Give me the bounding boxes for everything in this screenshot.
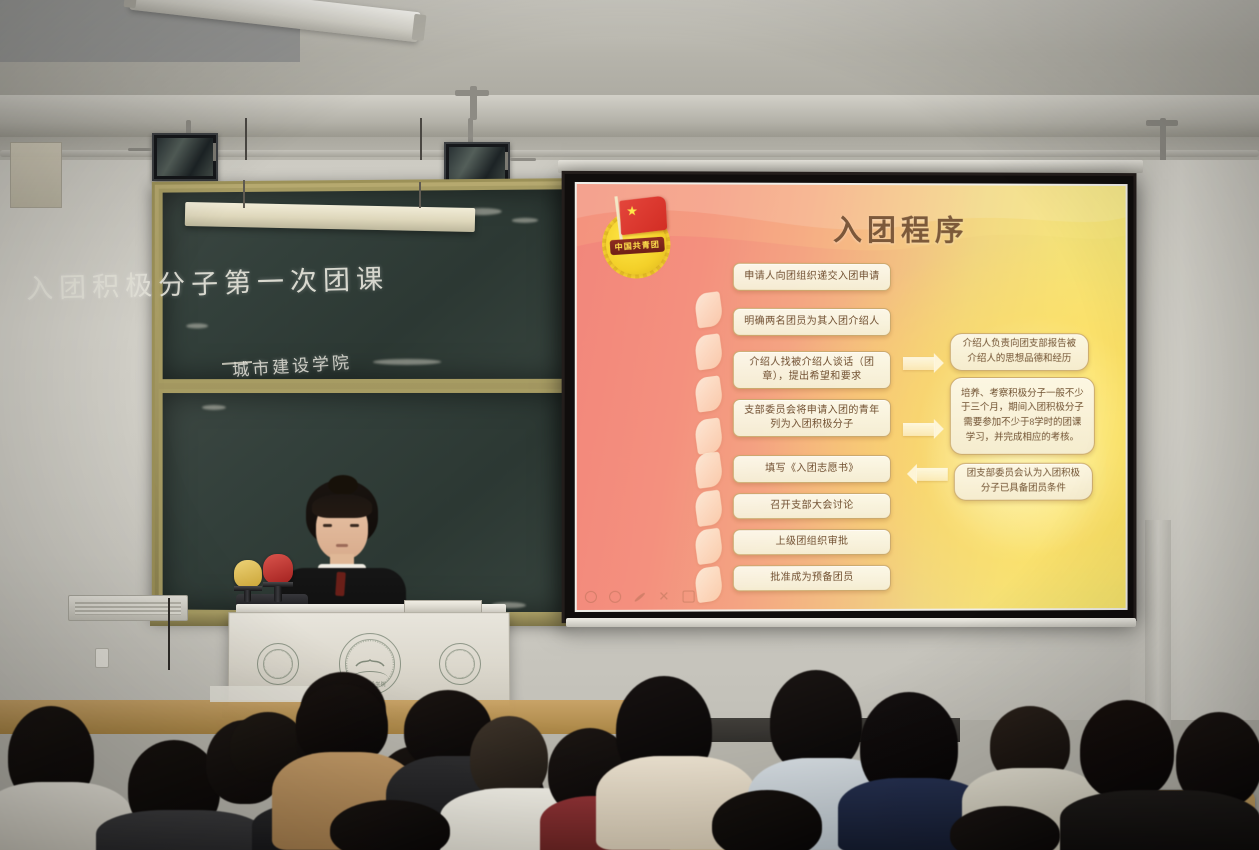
arrow-to-note-2 — [903, 423, 935, 436]
note-box-1[interactable]: 介绍人负责向团支部报告被介绍人的思想品德和经历 — [950, 333, 1089, 371]
communist-youth-league-emblem-icon: ★ 中国共青团 — [602, 196, 681, 275]
flow-step-6[interactable]: 召开支部大会讨论 — [733, 493, 891, 519]
wall-panel — [10, 142, 62, 208]
note-box-3[interactable]: 团支部委员会认为入团积极分子已具备团员条件 — [954, 463, 1093, 501]
ac-cable — [168, 598, 170, 670]
audience-shoulders — [96, 810, 266, 850]
ribbon-arrow-8 — [693, 566, 724, 603]
note-box-2[interactable]: 培养、考察积极分子一般不少于三个月，期间入团积极分子需要参加不少于8学时的团课学… — [950, 377, 1095, 455]
presenter-mouth — [336, 544, 348, 547]
ribbon-arrow-7 — [693, 528, 724, 565]
screen-bottom-bar — [566, 618, 1136, 627]
ribbon-arrow-2 — [693, 333, 724, 370]
ribbon-arrow-6 — [693, 490, 724, 527]
presenter-fringe — [312, 494, 372, 518]
conduit-tee — [455, 90, 489, 96]
pen-icon[interactable] — [634, 591, 646, 602]
lecture-hall-photo: 入团积极分子第一次团课 城市建设学院 — [0, 0, 1259, 850]
microphone-yellow — [234, 560, 262, 588]
close-icon[interactable]: ✕ — [658, 591, 670, 603]
screen-surface: ★ 中国共青团 入团程序 申请人向团组织递交入团申请 明确两名团员为其入团介绍人… — [575, 182, 1128, 612]
wall-speaker-left — [152, 133, 218, 181]
flow-step-3[interactable]: 介绍人找被介绍人谈话（团章），提出希望和要求 — [733, 351, 891, 389]
arrow-to-note-1 — [903, 357, 935, 370]
powerpoint-presenter-toolbar[interactable]: ✕ — [585, 591, 695, 603]
wall-air-conditioner — [68, 595, 188, 621]
flow-step-4[interactable]: 支部委员会将申请入团的青年列为入团积极分子 — [733, 399, 891, 437]
flow-step-7[interactable]: 上级团组织审批 — [733, 529, 891, 555]
microphone-red-stem — [274, 586, 282, 602]
ribbon-arrow-1 — [693, 291, 724, 328]
flow-step-8[interactable]: 批准成为预备团员 — [733, 565, 891, 592]
podium-bird-icon — [355, 658, 385, 668]
podium-seal-right — [439, 643, 481, 685]
ribbon-arrow-5 — [693, 451, 724, 488]
power-outlet — [95, 648, 109, 668]
speaker-cable-right — [510, 158, 536, 161]
audience-head — [1080, 700, 1174, 800]
presenter-hair-bun — [328, 475, 358, 495]
emblem-star-icon: ★ — [626, 204, 639, 217]
flow-step-1[interactable]: 申请人向团组织递交入团申请 — [733, 263, 891, 291]
pen-circle-icon[interactable] — [609, 591, 621, 603]
conduit-right-tee — [1146, 120, 1178, 126]
slide-title: 入团程序 — [833, 207, 969, 249]
projection-screen: ★ 中国共青团 入团程序 申请人向团组织递交入团申请 明确两名团员为其入团介绍人… — [562, 171, 1137, 623]
flow-step-2[interactable]: 明确两名团员为其入团介绍人 — [733, 308, 891, 336]
slides-icon[interactable] — [683, 591, 695, 603]
microphone-red — [263, 554, 293, 584]
ribbon-arrow-4 — [693, 417, 724, 454]
presenter-scarf — [335, 572, 346, 597]
ribbon-arrow-3 — [693, 375, 724, 412]
podium-seal-left — [257, 643, 299, 685]
pointer-icon[interactable] — [585, 591, 597, 603]
microphone-yellow-stem — [244, 590, 251, 602]
flow-step-5[interactable]: 填写《入团志愿书》 — [733, 455, 891, 483]
arrow-from-note-3 — [916, 468, 948, 481]
speaker-cable-left — [128, 148, 152, 151]
lamp-cord-right — [419, 182, 421, 208]
audience-shoulders — [1060, 790, 1259, 850]
presentation-slide[interactable]: ★ 中国共青团 入团程序 申请人向团组织递交入团申请 明确两名团员为其入团介绍人… — [577, 184, 1126, 610]
lamp-cord-left — [243, 180, 245, 208]
